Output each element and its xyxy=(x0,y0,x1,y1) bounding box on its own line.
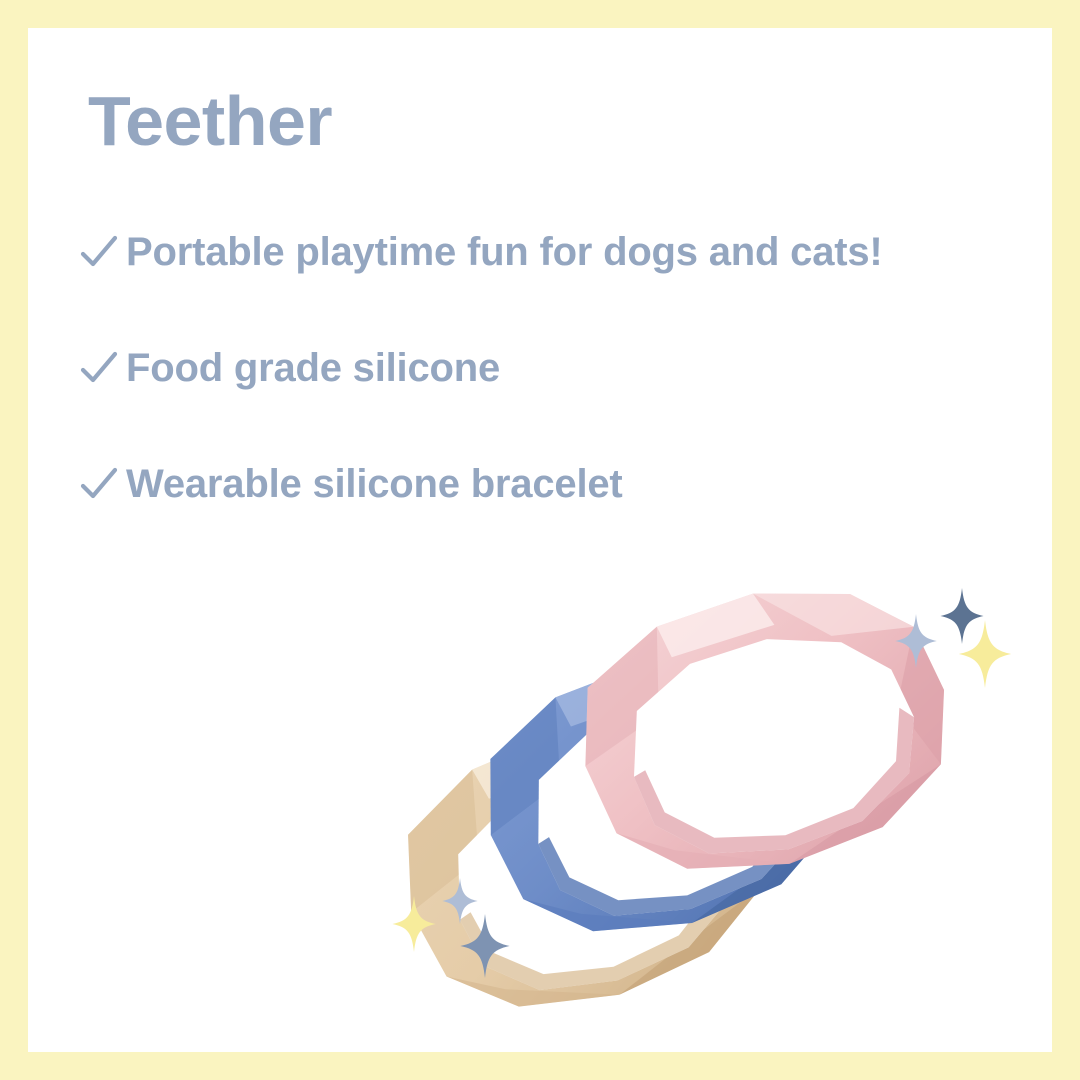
sparkle-icon xyxy=(392,896,436,952)
check-icon xyxy=(76,345,122,391)
card-canvas: Teether Portable playtime fun for dogs a… xyxy=(28,28,1052,1052)
list-item: Food grade silicone xyxy=(76,340,1052,396)
feature-label: Portable playtime fun for dogs and cats! xyxy=(126,232,883,272)
list-item: Portable playtime fun for dogs and cats! xyxy=(76,224,1052,280)
sparkle-icon xyxy=(460,914,510,978)
page-title: Teether xyxy=(88,86,332,156)
list-item: Wearable silicone bracelet xyxy=(76,456,1052,512)
check-icon xyxy=(76,229,122,275)
feature-label: Wearable silicone bracelet xyxy=(126,464,623,504)
check-icon xyxy=(76,461,122,507)
product-feature-card: Teether Portable playtime fun for dogs a… xyxy=(0,0,1080,1080)
feature-label: Food grade silicone xyxy=(126,348,500,388)
sparkle-icon xyxy=(894,614,938,668)
sparkle-icon xyxy=(958,620,1012,688)
